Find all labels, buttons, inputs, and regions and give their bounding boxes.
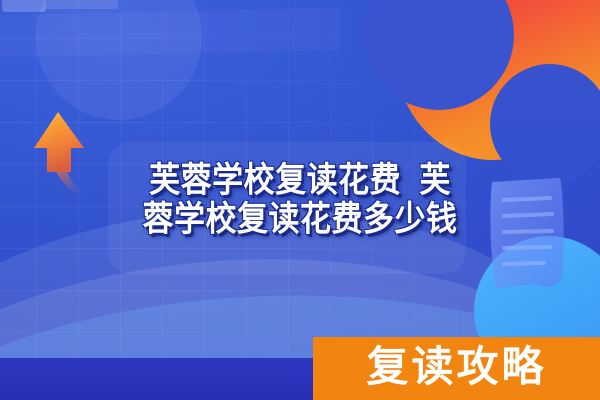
banner-badge: 复读攻略 — [313, 337, 600, 400]
poster-canvas: 芙蓉学校复读花费 芙 蓉学校复读花费多少钱 复读攻略 — [0, 0, 600, 400]
band-decoration-top — [0, 8, 340, 58]
up-arrow-icon — [26, 108, 104, 236]
title-backing-panel — [108, 142, 466, 274]
document-page-icon — [482, 176, 578, 302]
blob-notch-lower — [490, 64, 600, 184]
watermark-logo — [2, 0, 46, 12]
watermark-bar — [46, 0, 118, 9]
banner-label: 复读攻略 — [366, 347, 546, 391]
